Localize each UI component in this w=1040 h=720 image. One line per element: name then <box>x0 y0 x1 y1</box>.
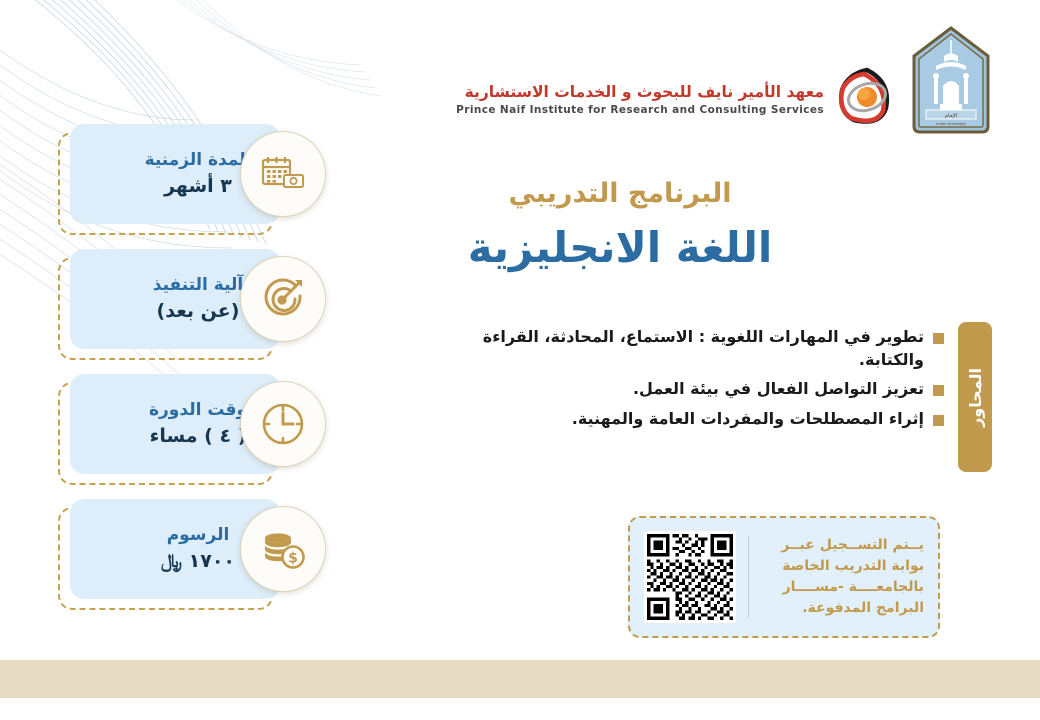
calendar-money-icon <box>258 149 308 199</box>
poster-canvas: الإمام Imam University معهد الأمير نايف … <box>0 0 1040 720</box>
fees-card: الرسوم ١٧٠٠ ﷼ $ <box>58 499 338 624</box>
duration-card: المدة الزمنية ٣ أشهر <box>58 124 338 249</box>
card-title: الرسوم <box>167 525 230 545</box>
objective-item: إثراء المصطلحات والمفردات العامة والمهني… <box>432 408 944 431</box>
clock-icon <box>258 399 308 449</box>
registration-box[interactable]: يــتم التســجيل عبــر بوابة التدريب الخا… <box>628 516 940 638</box>
objective-text: إثراء المصطلحات والمفردات العامة والمهني… <box>432 408 924 431</box>
objective-text: تعزيز التواصل الفعال في بيئة العمل. <box>432 378 924 401</box>
square-bullet-icon <box>933 385 944 396</box>
card-icon-badge <box>240 131 326 217</box>
target-icon <box>258 274 308 324</box>
institute-name-en: Prince Naif Institute for Research and C… <box>456 104 824 116</box>
objective-text: تطوير في المهارات اللغوية : الاستماع، ال… <box>432 326 924 371</box>
course-time-card: وقت الدورة ( ٤ ) مساء <box>58 374 338 499</box>
card-icon-badge <box>240 256 326 342</box>
square-bullet-icon <box>933 415 944 426</box>
delivery-mode-card: آلية التنفيذ (عن بعد) <box>58 249 338 374</box>
card-value: ( ٤ ) مساء <box>150 425 247 448</box>
card-title: المدة الزمنية <box>145 150 252 170</box>
registration-text: يــتم التســجيل عبــر بوابة التدريب الخا… <box>760 535 924 619</box>
prince-naif-institute-logo-icon <box>834 64 900 130</box>
coins-icon: $ <box>258 524 308 574</box>
objectives-tab-label: المحاور <box>966 368 985 427</box>
card-value: ١٧٠٠ ﷼ <box>161 550 235 573</box>
objectives-tab: المحاور <box>958 322 992 472</box>
institute-name: معهد الأمير نايف للبحوث و الخدمات الاستش… <box>456 44 824 117</box>
program-title-block: البرنامج التدريبي اللغة الانجليزية <box>420 178 980 272</box>
header-logo-block: الإمام Imam University معهد الأمير نايف … <box>456 26 992 134</box>
card-value: (عن بعد) <box>157 300 240 323</box>
imam-university-emblem-icon: الإمام Imam University <box>910 26 992 134</box>
bottom-color-band <box>0 660 1040 698</box>
objective-item: تطوير في المهارات اللغوية : الاستماع، ال… <box>432 326 944 371</box>
card-icon-badge <box>240 381 326 467</box>
qr-code[interactable] <box>644 531 736 623</box>
card-title: وقت الدورة <box>149 400 247 420</box>
objective-item: تعزيز التواصل الفعال في بيئة العمل. <box>432 378 944 401</box>
card-value: ٣ أشهر <box>164 175 232 198</box>
svg-text:الإمام: الإمام <box>945 113 958 119</box>
info-cards: المدة الزمنية ٣ أشهر <box>58 124 338 624</box>
objectives-list: تطوير في المهارات اللغوية : الاستماع، ال… <box>432 322 944 438</box>
square-bullet-icon <box>933 333 944 344</box>
objectives-section: المحاور تطوير في المهارات اللغوية : الاس… <box>432 322 992 472</box>
program-title: اللغة الانجليزية <box>420 223 980 272</box>
program-subtitle: البرنامج التدريبي <box>420 178 980 209</box>
svg-text:$: $ <box>288 551 298 567</box>
institute-name-ar: معهد الأمير نايف للبحوث و الخدمات الاستش… <box>456 84 824 102</box>
card-title: آلية التنفيذ <box>153 275 243 295</box>
card-icon-badge: $ <box>240 506 326 592</box>
svg-text:Imam University: Imam University <box>936 122 966 126</box>
